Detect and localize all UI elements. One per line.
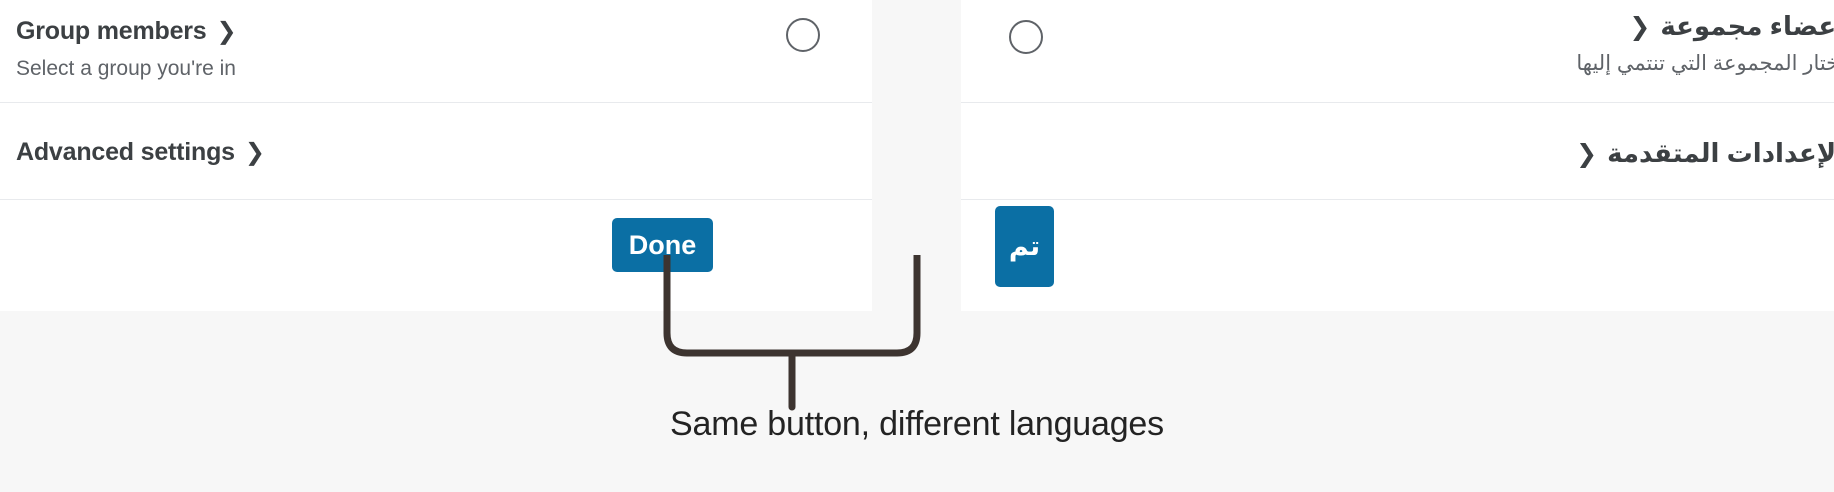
group-members-title: Group members❯: [16, 16, 872, 47]
list-item-advanced-settings-ar[interactable]: الإعدادات المتقدمة❮: [961, 103, 1834, 200]
settings-panel-arabic: أعضاء مجموعة❮ اختار المجموعة التي تنتمي …: [961, 0, 1834, 311]
panel-actions-english: Done: [0, 200, 872, 310]
done-button[interactable]: Done: [612, 218, 713, 272]
group-members-subtitle: Select a group you're in: [16, 55, 872, 82]
settings-panel-english: Group members❯ Select a group you're in …: [0, 0, 872, 311]
group-members-label-ar: أعضاء مجموعة: [1660, 11, 1834, 41]
list-item-group-members-ar[interactable]: أعضاء مجموعة❮ اختار المجموعة التي تنتمي …: [961, 0, 1834, 103]
advanced-settings-title: Advanced settings❯: [16, 137, 872, 168]
panel-actions-arabic: تم: [961, 200, 1834, 310]
advanced-settings-label-ar: الإعدادات المتقدمة: [1607, 138, 1834, 168]
chevron-right-icon: ❯: [245, 138, 265, 168]
annotation-caption-text: Same button, different languages: [670, 405, 1164, 444]
list-item-advanced-settings[interactable]: Advanced settings❯: [0, 103, 872, 200]
group-members-subtitle-ar: اختار المجموعة التي تنتمي إليها: [961, 50, 1834, 77]
group-members-title-ar: أعضاء مجموعة❮: [961, 10, 1834, 44]
group-members-radio-ar[interactable]: [1009, 20, 1043, 54]
annotated-comparison-figure: Group members❯ Select a group you're in …: [0, 0, 1834, 492]
annotation-caption: Same button, different languages: [0, 405, 1834, 444]
done-button-ar[interactable]: تم: [995, 206, 1054, 287]
chevron-right-icon: ❯: [217, 17, 237, 47]
advanced-settings-label: Advanced settings: [16, 138, 235, 166]
advanced-settings-title-ar: الإعدادات المتقدمة❮: [961, 137, 1834, 171]
group-members-label: Group members: [16, 17, 207, 45]
chevron-left-icon: ❮: [1629, 11, 1650, 44]
chevron-left-icon: ❮: [1576, 138, 1597, 171]
list-item-group-members[interactable]: Group members❯ Select a group you're in: [0, 0, 872, 103]
group-members-radio[interactable]: [786, 18, 820, 52]
